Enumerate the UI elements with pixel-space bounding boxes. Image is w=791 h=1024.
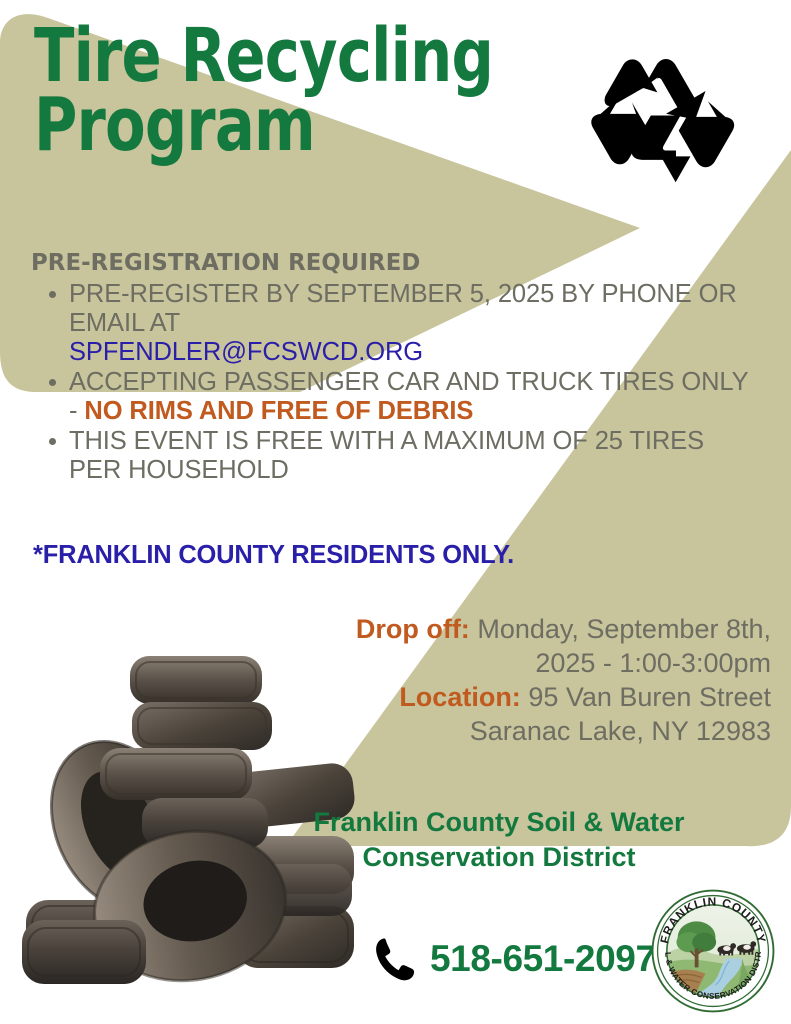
- registration-bullet-list: PRE-REGISTER BY SEPTEMBER 5, 2025 BY PHO…: [31, 280, 751, 485]
- registration-email[interactable]: SPFENDLER@FCSWCD.ORG: [69, 338, 751, 367]
- tire-recycling-flyer: Tire Recycling Program PRE-REGISTRATION: [0, 0, 791, 1024]
- location-label: Location:: [399, 682, 521, 712]
- list-item: THIS EVENT IS FREE WITH A MAXIMUM OF 25 …: [31, 427, 751, 485]
- location-row: Location: 95 Van Buren Street: [211, 680, 771, 714]
- dropoff-label: Drop off:: [356, 614, 470, 644]
- location-value-2-row: Saranac Lake, NY 12983: [211, 714, 771, 748]
- phone-handset-icon: [374, 936, 416, 982]
- dropoff-value-2-row: 2025 - 1:00-3:00pm: [211, 646, 771, 680]
- location-value-1: 95 Van Buren Street: [528, 682, 771, 712]
- residents-only-note: *FRANKLIN COUNTY RESIDENTS ONLY.: [33, 541, 514, 570]
- dropoff-value-1: Monday, September 8th,: [477, 614, 771, 644]
- flyer-title: Tire Recycling Program: [34, 24, 574, 158]
- org-name-line-1: Franklin County Soil & Water: [239, 805, 759, 840]
- bullet-3-text: THIS EVENT IS FREE WITH A MAXIMUM OF 25 …: [69, 427, 704, 484]
- event-details: Drop off: Monday, September 8th, 2025 - …: [211, 612, 771, 748]
- list-item: ACCEPTING PASSENGER CAR AND TRUCK TIRES …: [31, 368, 751, 426]
- list-item: PRE-REGISTER BY SEPTEMBER 5, 2025 BY PHO…: [31, 280, 751, 367]
- phone-number[interactable]: 518-651-2097: [430, 938, 656, 980]
- bullet-2-highlight: NO RIMS AND FREE OF DEBRIS: [84, 397, 473, 425]
- org-name-line-2: Conservation District: [239, 840, 759, 875]
- organization-name: Franklin County Soil & Water Conservatio…: [239, 805, 759, 874]
- title-line-2: Program: [34, 93, 466, 158]
- registration-section: PRE-REGISTRATION REQUIRED PRE-REGISTER B…: [31, 248, 751, 486]
- dropoff-row: Drop off: Monday, September 8th,: [211, 612, 771, 646]
- prereg-heading: PRE-REGISTRATION REQUIRED: [31, 248, 729, 276]
- recycling-symbol-icon: [580, 36, 752, 208]
- title-line-1: Tire Recycling: [34, 24, 466, 89]
- franklin-county-swcd-logo: FRANKLIN COUNTY SOIL & WATER CONSERVATIO…: [650, 888, 776, 1014]
- phone-contact[interactable]: 518-651-2097: [374, 936, 656, 982]
- bullet-1-text: PRE-REGISTER BY SEPTEMBER 5, 2025 BY PHO…: [69, 280, 737, 337]
